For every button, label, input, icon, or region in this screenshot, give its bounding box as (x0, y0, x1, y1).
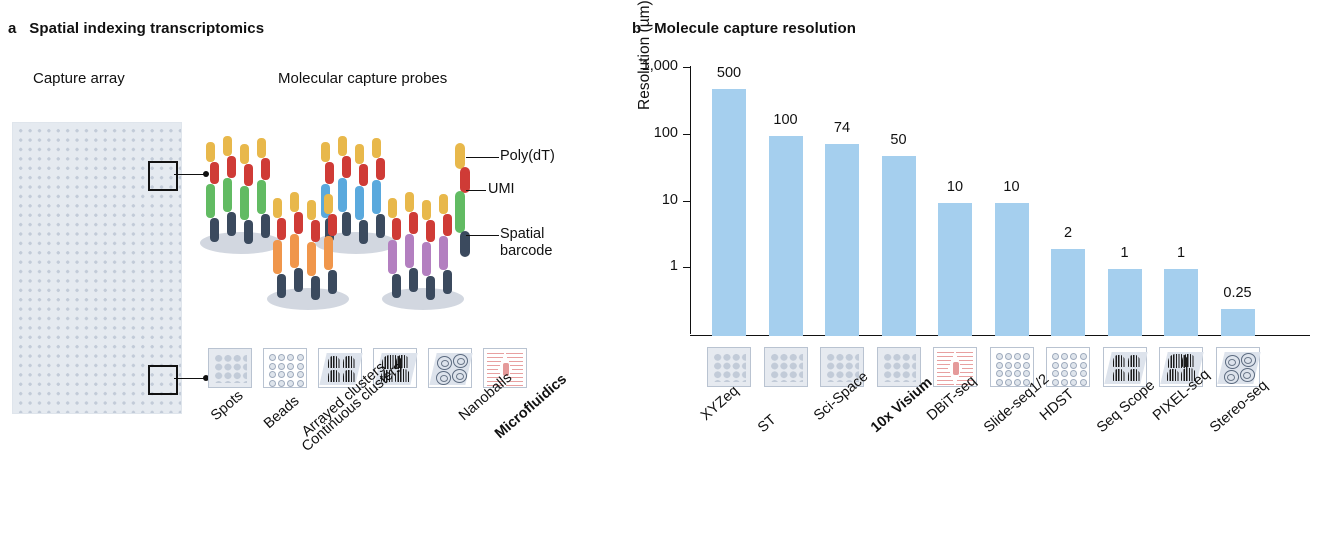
channel-line (957, 356, 973, 357)
channel-line (937, 360, 951, 361)
nanoball (1240, 368, 1255, 382)
capture-probe-4-4 (439, 194, 448, 294)
channel-line (937, 364, 950, 365)
callout-leader-bottom (174, 378, 205, 379)
bead-dot (287, 371, 294, 378)
callout-leader-top (174, 174, 205, 175)
channel-line (959, 360, 973, 361)
panel-a-tile-spots (208, 348, 252, 388)
channel-line (509, 361, 523, 362)
bar-value-dbit-seq: 10 (927, 179, 983, 195)
panel-a-tile-nanoballs (428, 348, 472, 388)
bead-dot (278, 354, 285, 361)
channel-line (510, 373, 523, 374)
panel-b-tile-st (764, 347, 808, 387)
probe-segment (409, 268, 418, 292)
capture-array-subhead: Capture array (33, 70, 125, 87)
bead-grid (995, 352, 1029, 382)
legend-label-polydt: Poly(dT) (500, 148, 555, 165)
capture-probe-2-2 (338, 136, 347, 236)
probe-segment (227, 156, 236, 178)
y-tick (683, 134, 690, 135)
bead-dot (1070, 353, 1077, 360)
bar-value-hdst: 2 (1040, 225, 1096, 241)
legend-label-spatial-barcode: Spatial barcode (500, 226, 552, 260)
panel-b-label-xyzeq: XYZeq (698, 383, 742, 424)
cluster-patch (343, 356, 355, 368)
y-tick (683, 267, 690, 268)
channel-line (937, 376, 951, 377)
legend-line-umi (466, 190, 486, 191)
bead-dot (287, 354, 294, 361)
capture-probe-4-2 (405, 192, 414, 292)
panel-b-tile-seq-scope (1103, 347, 1147, 387)
panel-b-tile-hdst (1046, 347, 1090, 387)
cluster-patch (328, 370, 340, 382)
probe-segment (206, 142, 215, 162)
dot-grid (769, 352, 803, 382)
y-tick-label: 1 (670, 258, 678, 274)
probe-segment (388, 240, 397, 274)
capture-probe-1-3 (240, 144, 249, 244)
channel-line (487, 373, 500, 374)
callout-box-top (148, 161, 178, 191)
legend-line-polydt (466, 157, 499, 158)
channel-line (937, 384, 954, 385)
probe-legend: Poly(dT) UMI Spatial barcode (455, 143, 471, 273)
channel-line (960, 372, 973, 373)
cluster-patch (328, 356, 340, 368)
panel-a-title: Spatial indexing transcriptomics (29, 20, 264, 37)
legend-probe-segment (455, 191, 465, 233)
probe-segment (405, 234, 414, 268)
bar-value-pixel-seq: 1 (1153, 245, 1209, 261)
panel-b-title: Molecule capture resolution (654, 20, 856, 37)
bead-dot (1052, 370, 1059, 377)
panel-a-header: a Spatial indexing transcriptomics (8, 20, 264, 37)
probe-segment (294, 212, 303, 234)
dot-grid (882, 352, 916, 382)
callout-box-bottom (148, 365, 178, 395)
bead-dot (1023, 370, 1030, 377)
legend-probe-segment (455, 143, 465, 169)
dot-grid (213, 353, 247, 383)
bead-dot (297, 380, 304, 387)
channel-line (937, 352, 954, 353)
cluster-patch (1128, 369, 1140, 381)
probe-segment (244, 164, 253, 186)
bead-dot (1014, 370, 1021, 377)
probe-segment (426, 220, 435, 242)
bead-dot (996, 370, 1003, 377)
probe-segment (324, 236, 333, 270)
bar-stereo-seq (1221, 309, 1255, 336)
y-axis-line (690, 66, 691, 334)
probe-segment (376, 214, 385, 238)
capture-probe-4-1 (388, 198, 397, 298)
probe-segment (210, 218, 219, 242)
channel-line (487, 357, 503, 358)
figure-canvas: a Spatial indexing transcriptomics Captu… (0, 0, 1325, 541)
bar-value-sci-space: 74 (814, 120, 870, 136)
panel-b-tile-xyzeq (707, 347, 751, 387)
bead-dot (996, 362, 1003, 369)
channel-line (510, 365, 523, 366)
bar-value-xyzeq: 500 (701, 65, 757, 81)
bar-value-st: 100 (758, 112, 814, 128)
bar-seq-scope (1108, 269, 1142, 336)
bar-sci-space (825, 144, 859, 336)
channel-line (487, 365, 500, 366)
probe-segment (311, 220, 320, 242)
nanoball (453, 354, 468, 368)
nanoball (1224, 370, 1239, 384)
bead-dot (1070, 362, 1077, 369)
channel-line (937, 368, 948, 369)
bead-dot (996, 353, 1003, 360)
panel-b-label-st: ST (755, 412, 779, 436)
channel-junction (953, 362, 959, 375)
probe-segment (422, 242, 431, 276)
capture-probe-1-1 (206, 142, 215, 242)
bead-dot (297, 371, 304, 378)
bead-dot (1080, 379, 1087, 386)
probe-segment (338, 178, 347, 212)
probe-segment (359, 164, 368, 186)
bar-slide-seq1-2 (995, 203, 1029, 337)
bar-value-10x-visium: 50 (871, 132, 927, 148)
bar-st (769, 136, 803, 336)
channel-line (507, 357, 523, 358)
probe-segment (240, 186, 249, 220)
panel-a-tile-beads (263, 348, 307, 388)
probe-segment (290, 234, 299, 268)
bar-xyzeq (712, 89, 746, 336)
bead-dot (287, 380, 294, 387)
probe-segment (311, 276, 320, 300)
y-tick-label: 1,000 (642, 58, 678, 74)
probe-segment (307, 242, 316, 276)
panel-b-tile-stereo-seq (1216, 347, 1260, 387)
bar-hdst (1051, 249, 1085, 336)
probe-segment (405, 192, 414, 212)
resolution-bar-chart: 1,000100101 500100745010102110.25 (690, 66, 1310, 336)
legend-label-spatial-barcode-line2: barcode (500, 243, 552, 259)
capture-probe-3-3 (307, 200, 316, 300)
probe-segment (257, 180, 266, 214)
probe-segment (290, 192, 299, 212)
legend-label-umi: UMI (488, 181, 515, 198)
probe-segment (439, 236, 448, 270)
capture-probe-1-4 (257, 138, 266, 238)
probe-segment (392, 218, 401, 240)
nanoball (1241, 353, 1256, 367)
probe-segment (257, 138, 266, 158)
probe-segment (240, 144, 249, 164)
cluster-patch (1113, 355, 1125, 367)
capture-probe-3-2 (290, 192, 299, 292)
probe-segment (321, 142, 330, 162)
molecular-probes-subhead: Molecular capture probes (278, 70, 447, 87)
bead-dot (1052, 362, 1059, 369)
y-tick-label: 10 (662, 192, 678, 208)
bar-value-seq-scope: 1 (1097, 245, 1153, 261)
bead-dot (1005, 370, 1012, 377)
legend-probe-strand (455, 143, 471, 273)
channel-line (937, 372, 950, 373)
panel-a-label-spots: Spots (208, 388, 246, 424)
cluster-patch (1113, 369, 1125, 381)
capture-probe-3-4 (324, 194, 333, 294)
probe-segment (422, 200, 431, 220)
probe-segment (244, 220, 253, 244)
bead-dot (1061, 353, 1068, 360)
panel-a-label-beads: Beads (261, 393, 303, 432)
nanoball (436, 371, 451, 385)
cluster-patch (1182, 354, 1195, 367)
cluster-patch (1128, 355, 1140, 367)
panel-b-tile-slide-seq1-2 (990, 347, 1034, 387)
probe-segment (294, 268, 303, 292)
probe-segment (324, 194, 333, 214)
probe-segment (359, 220, 368, 244)
nanoball (437, 356, 452, 370)
bead-dot (1005, 353, 1012, 360)
probe-segment (277, 218, 286, 240)
legend-line-spatial-barcode (466, 235, 499, 236)
channel-line (960, 364, 973, 365)
bead-dot (269, 380, 276, 387)
probe-segment (223, 178, 232, 212)
bead-dot (1052, 353, 1059, 360)
bead-dot (1061, 370, 1068, 377)
bead-dot (1080, 353, 1087, 360)
probe-segment (325, 162, 334, 184)
channel-line (506, 353, 523, 354)
channel-line (962, 368, 973, 369)
bead-dot (297, 354, 304, 361)
bead-grid (1051, 352, 1085, 382)
bead-dot (1023, 353, 1030, 360)
bead-dot (1080, 362, 1087, 369)
bead-dot (1061, 379, 1068, 386)
probe-segment (443, 270, 452, 294)
probe-segment (277, 274, 286, 298)
legend-label-spatial-barcode-line1: Spatial (500, 226, 544, 242)
channel-line (937, 380, 953, 381)
bead-dot (1080, 370, 1087, 377)
bead-dot (287, 363, 294, 370)
probe-segment (426, 276, 435, 300)
panel-a-letter: a (8, 20, 16, 37)
bar-pixel-seq (1164, 269, 1198, 336)
channel-line (487, 369, 498, 370)
bead-dot (996, 379, 1003, 386)
y-axis-title: Resolution (µm) (636, 0, 654, 110)
bead-dot (1052, 379, 1059, 386)
probe-segment (355, 186, 364, 220)
y-tick (683, 67, 690, 68)
bar-dbit-seq (938, 203, 972, 337)
bead-dot (1005, 379, 1012, 386)
bead-dot (269, 354, 276, 361)
probe-segment (328, 270, 337, 294)
bar-value-stereo-seq: 0.25 (1210, 285, 1266, 301)
bead-dot (278, 380, 285, 387)
bead-dot (1070, 379, 1077, 386)
probe-segment (372, 180, 381, 214)
probe-segment (338, 136, 347, 156)
bead-dot (1005, 362, 1012, 369)
panel-b-header: b Molecule capture resolution (632, 20, 856, 37)
probe-segment (227, 212, 236, 236)
probe-segment (392, 274, 401, 298)
bead-dot (278, 371, 285, 378)
channel-line (487, 361, 501, 362)
probe-segment (307, 200, 316, 220)
probe-segment (261, 158, 270, 180)
capture-probe-4-3 (422, 200, 431, 300)
channel-line (487, 353, 504, 354)
capture-probe-3-1 (273, 198, 282, 298)
bead-dot (269, 371, 276, 378)
probe-segment (328, 214, 337, 236)
bar-10x-visium (882, 156, 916, 336)
probe-segment (376, 158, 385, 180)
probe-segment (372, 138, 381, 158)
panel-b-label-hdst: HDST (1037, 386, 1077, 424)
probe-segment (261, 214, 270, 238)
bead-dot (1070, 370, 1077, 377)
y-tick-label: 100 (654, 125, 678, 141)
skewed-plate (1104, 352, 1147, 384)
bead-dot (1061, 362, 1068, 369)
probe-segment (388, 198, 397, 218)
probe-segment (342, 156, 351, 178)
bead-dot (1023, 362, 1030, 369)
capture-probe-2-4 (372, 138, 381, 238)
bead-dot (297, 363, 304, 370)
y-tick (683, 201, 690, 202)
probe-segment (223, 136, 232, 156)
bead-grid (268, 353, 302, 383)
panel-b-tile-10x-visium (877, 347, 921, 387)
bead-dot (1014, 353, 1021, 360)
probe-segment (273, 240, 282, 274)
channel-line (937, 356, 953, 357)
probe-segment (206, 184, 215, 218)
probe-segment (355, 144, 364, 164)
capture-probe-1-2 (223, 136, 232, 236)
nanoball (452, 369, 467, 383)
nanoball (1225, 355, 1240, 369)
bead-dot (1014, 379, 1021, 386)
channel-line (512, 369, 523, 370)
bead-dot (278, 363, 285, 370)
probe-segment (443, 214, 452, 236)
probe-segment (409, 212, 418, 234)
probe-segment (210, 162, 219, 184)
probe-segment (273, 198, 282, 218)
probe-segment (439, 194, 448, 214)
probe-segment (342, 212, 351, 236)
cluster-patch (1167, 369, 1179, 381)
capture-probe-2-3 (355, 144, 364, 244)
bead-dot (269, 363, 276, 370)
bead-dot (1014, 362, 1021, 369)
dot-grid (712, 352, 746, 382)
bar-value-slide-seq1-2: 10 (984, 179, 1040, 195)
channel-line (956, 352, 973, 353)
